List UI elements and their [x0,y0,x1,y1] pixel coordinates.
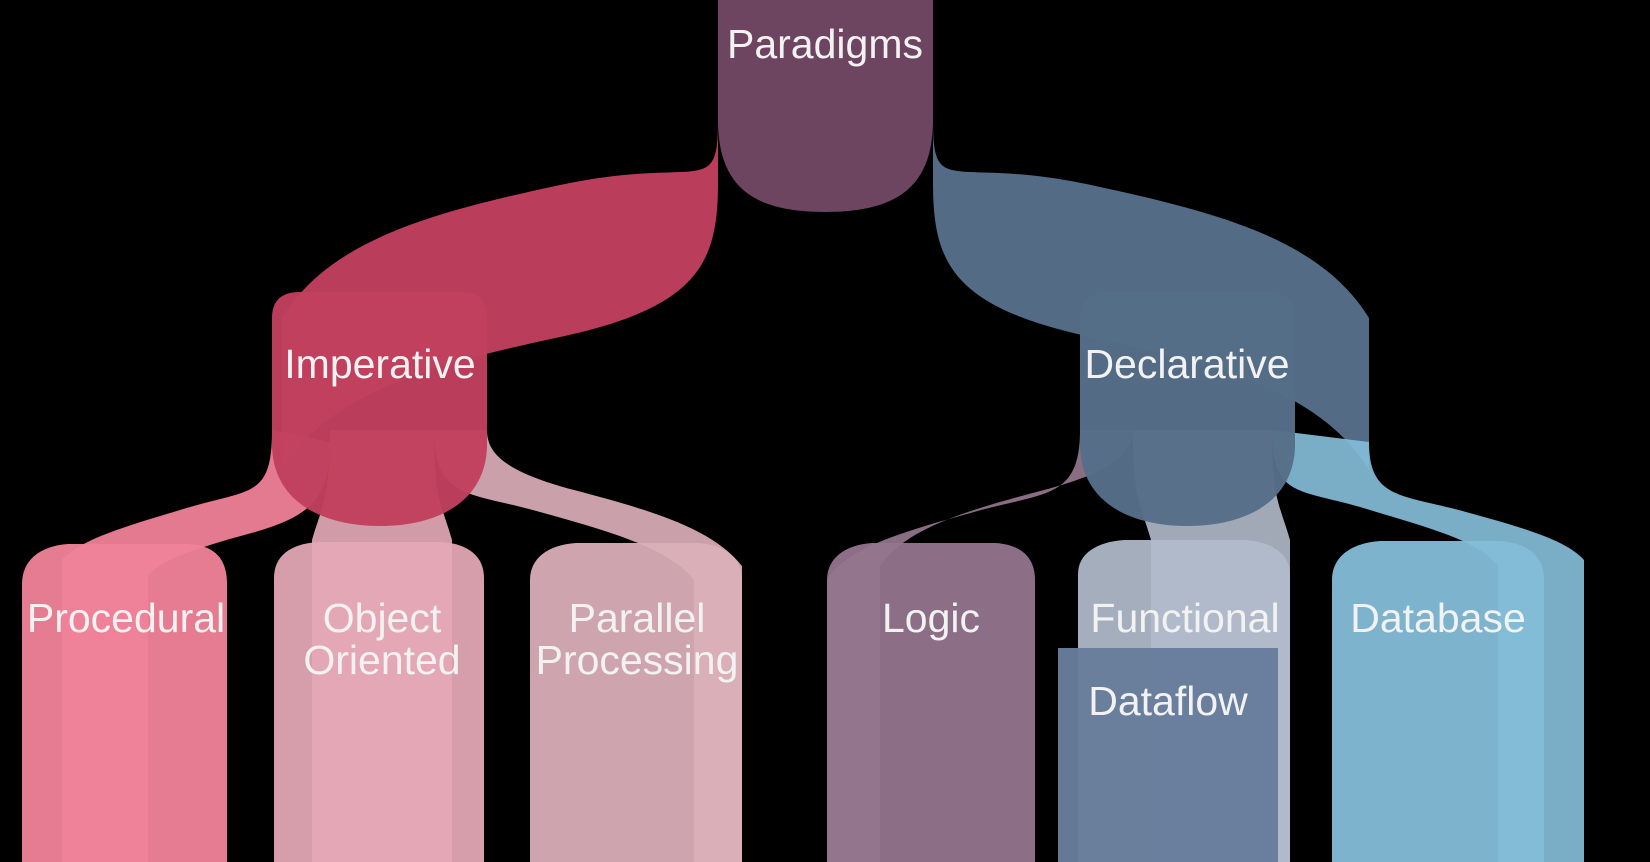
node-parallel-processing[interactable] [530,543,742,862]
label-object-oriented-line1: Object [323,595,442,641]
label-database: Database [1350,595,1526,641]
label-object-oriented-line2: Oriented [303,637,460,683]
label-procedural: Procedural [27,595,225,641]
label-declarative: Declarative [1084,341,1289,387]
label-paradigms: Paradigms [727,21,923,67]
label-parallel-processing-line1: Parallel [569,595,706,641]
label-imperative: Imperative [284,341,475,387]
label-functional: Functional [1090,595,1279,641]
node-logic[interactable] [827,543,1035,862]
node-object-oriented[interactable] [274,542,484,862]
node-imperative[interactable] [272,292,487,526]
sankey-canvas: Paradigms Imperative Declarative Procedu… [0,0,1650,862]
paradigms-sankey-diagram: Paradigms Imperative Declarative Procedu… [0,0,1650,862]
label-object-oriented: Object Oriented [303,595,460,683]
label-logic: Logic [882,595,980,641]
node-procedural[interactable] [22,544,227,862]
node-database[interactable] [1332,541,1544,862]
node-declarative[interactable] [1080,292,1295,526]
label-parallel-processing-line2: Processing [536,637,739,683]
node-blocks [22,0,1544,862]
label-dataflow: Dataflow [1088,678,1248,724]
